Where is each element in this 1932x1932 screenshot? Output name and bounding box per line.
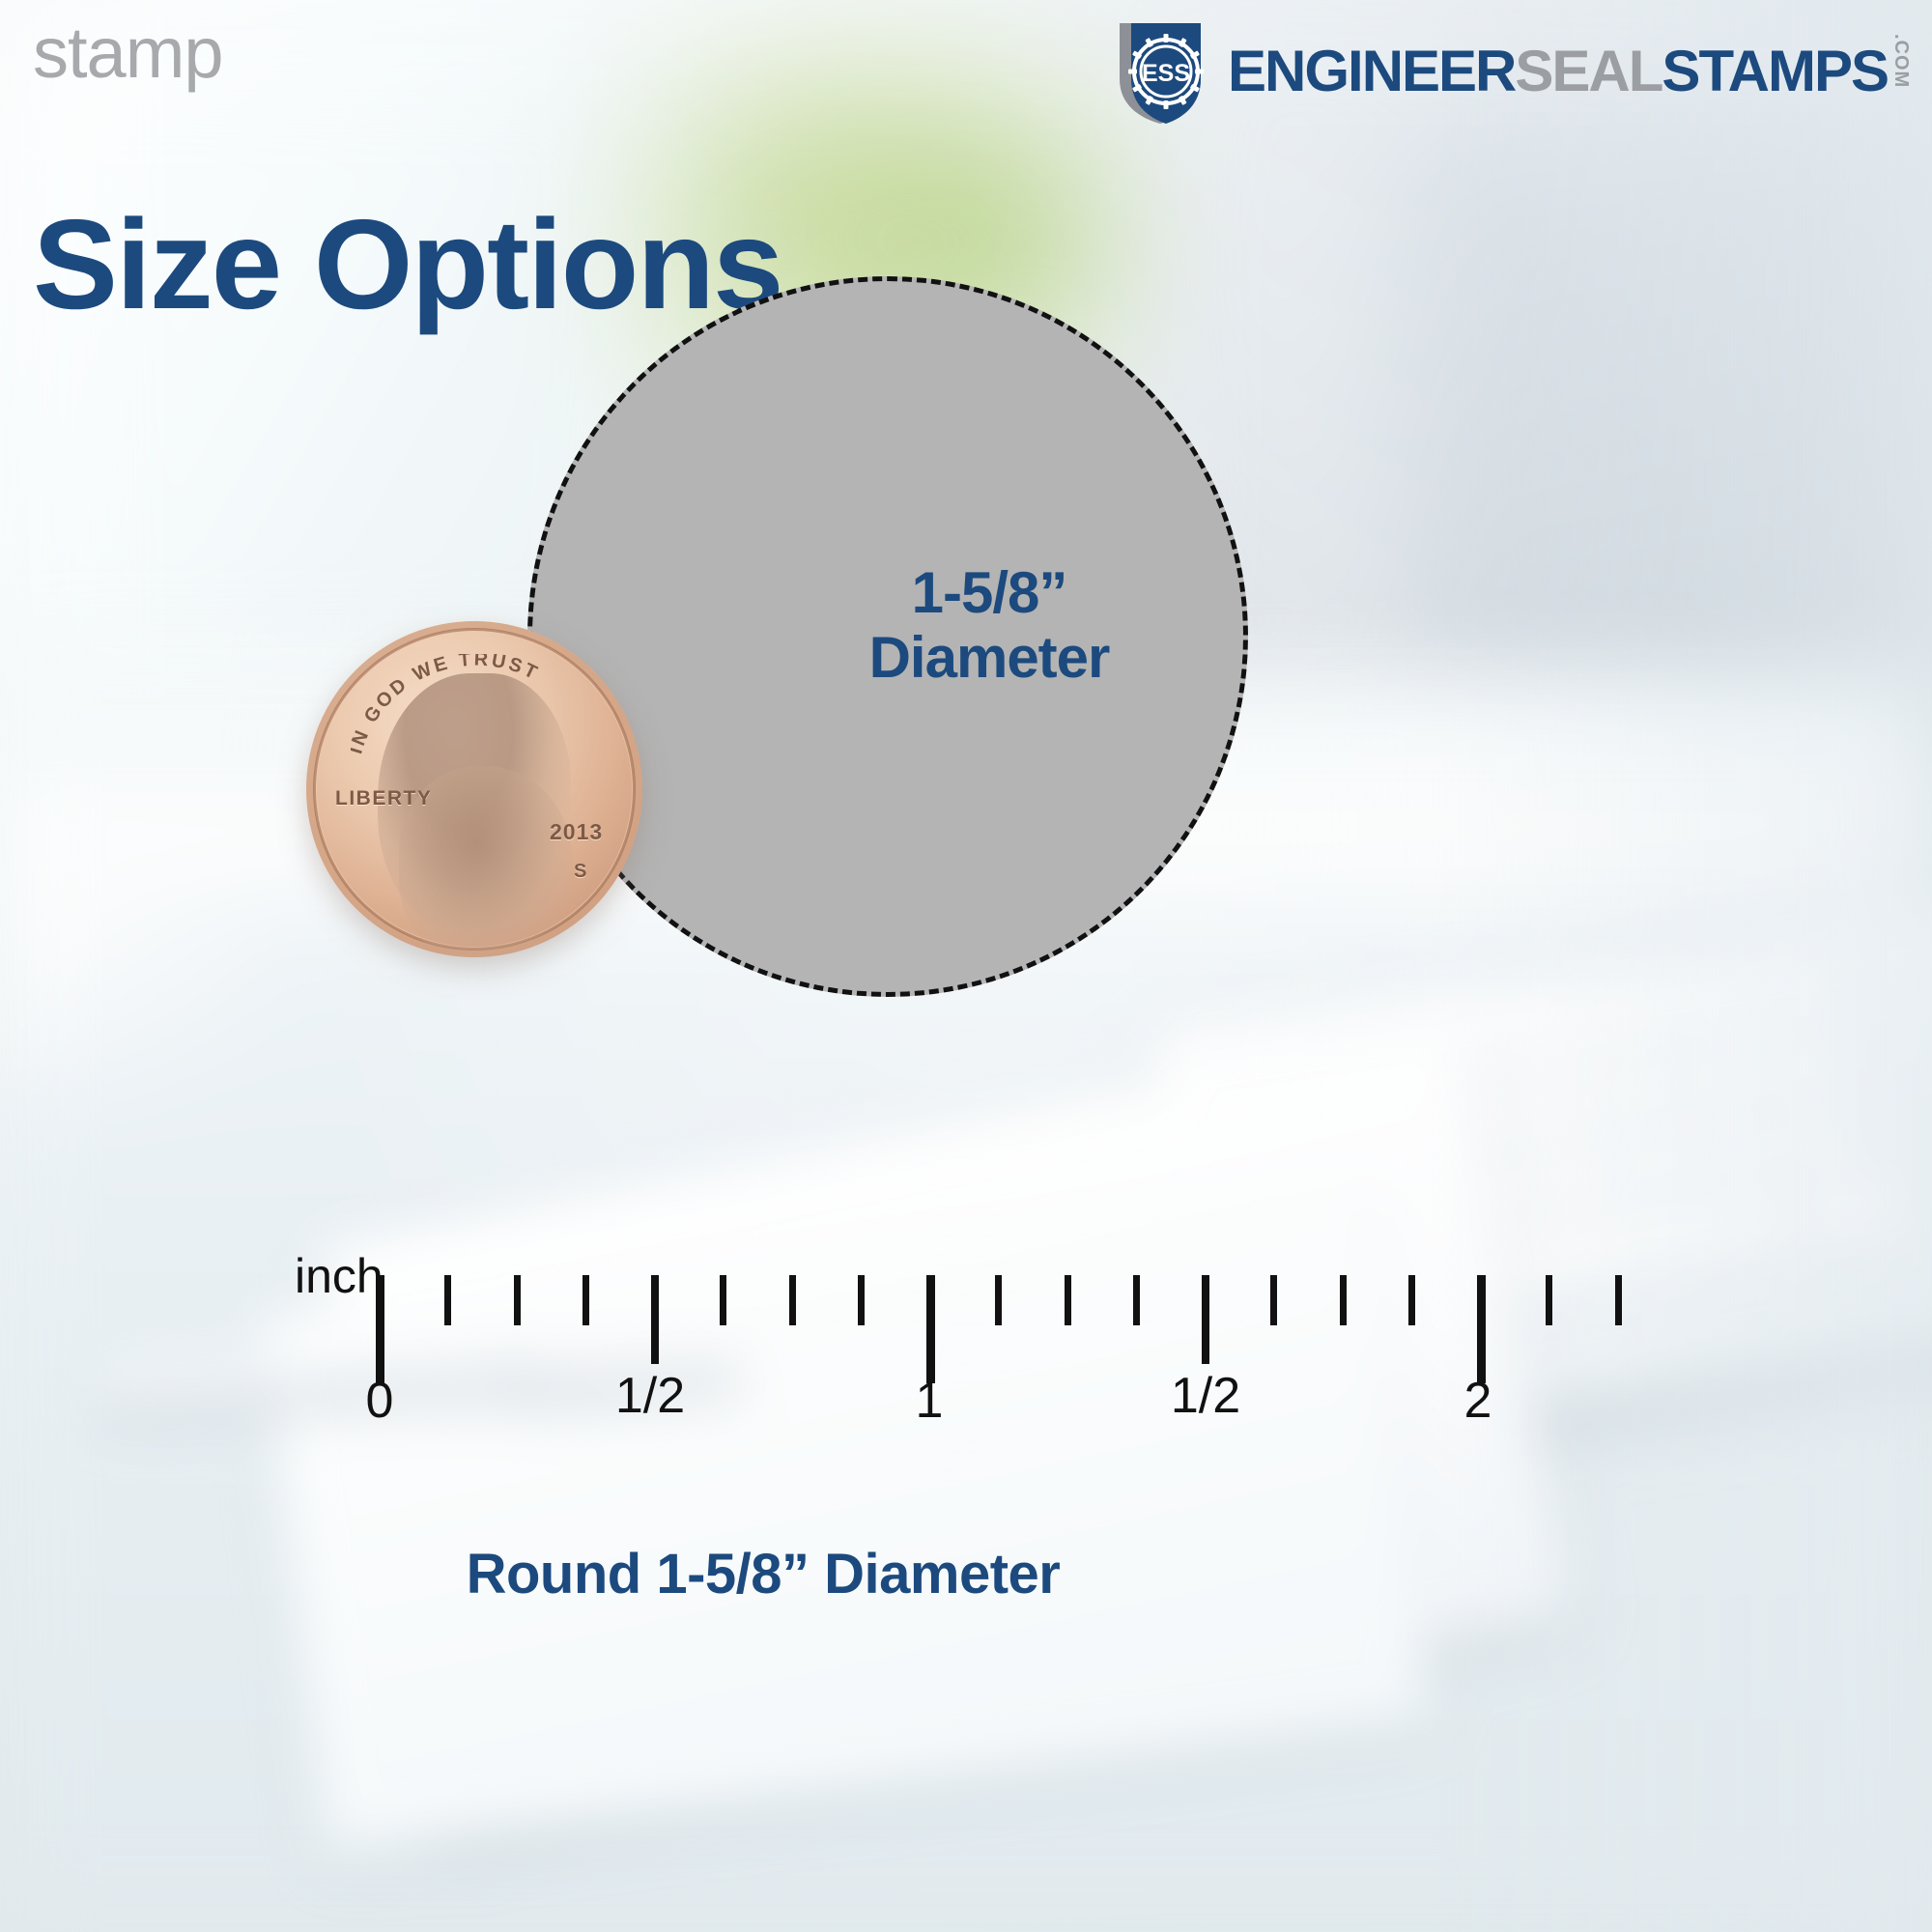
logo-stamps: STAMPS [1662, 43, 1888, 100]
svg-text:ESS: ESS [1142, 60, 1190, 87]
swatch-size-unit: Diameter [719, 625, 1260, 690]
penny-motto: IN GOD WE TRUST [351, 654, 592, 770]
swatch-size-value: 1-5/8” [719, 560, 1260, 625]
logo-tld: .COM [1891, 34, 1911, 109]
penny-year: 2013 [550, 819, 603, 845]
ess-shield-gear-icon: ESS [1106, 17, 1214, 126]
penny-coin: IN GOD WE TRUST LIBERTY 2013 S [306, 621, 642, 957]
brand-logo[interactable]: ESS ENGINEER SEAL STAMPS .COM [1106, 17, 1911, 126]
logo-seal: SEAL [1515, 43, 1662, 100]
penny-liberty: LIBERTY [335, 787, 432, 810]
penny-mintmark: S [574, 861, 586, 883]
size-options-graphic: stamp Size Options [0, 0, 1932, 1932]
size-caption: Round 1-5/8” Diameter [0, 1542, 1526, 1606]
swatch-size-label: 1-5/8” Diameter [719, 560, 1260, 690]
svg-text:IN GOD WE TRUST: IN GOD WE TRUST [351, 654, 543, 756]
logo-engineer: ENGINEER [1228, 43, 1515, 100]
logo-wordmark: ENGINEER SEAL STAMPS .COM [1228, 34, 1911, 109]
page-title: Size Options [33, 201, 781, 328]
eyebrow-text: stamp [33, 17, 223, 89]
